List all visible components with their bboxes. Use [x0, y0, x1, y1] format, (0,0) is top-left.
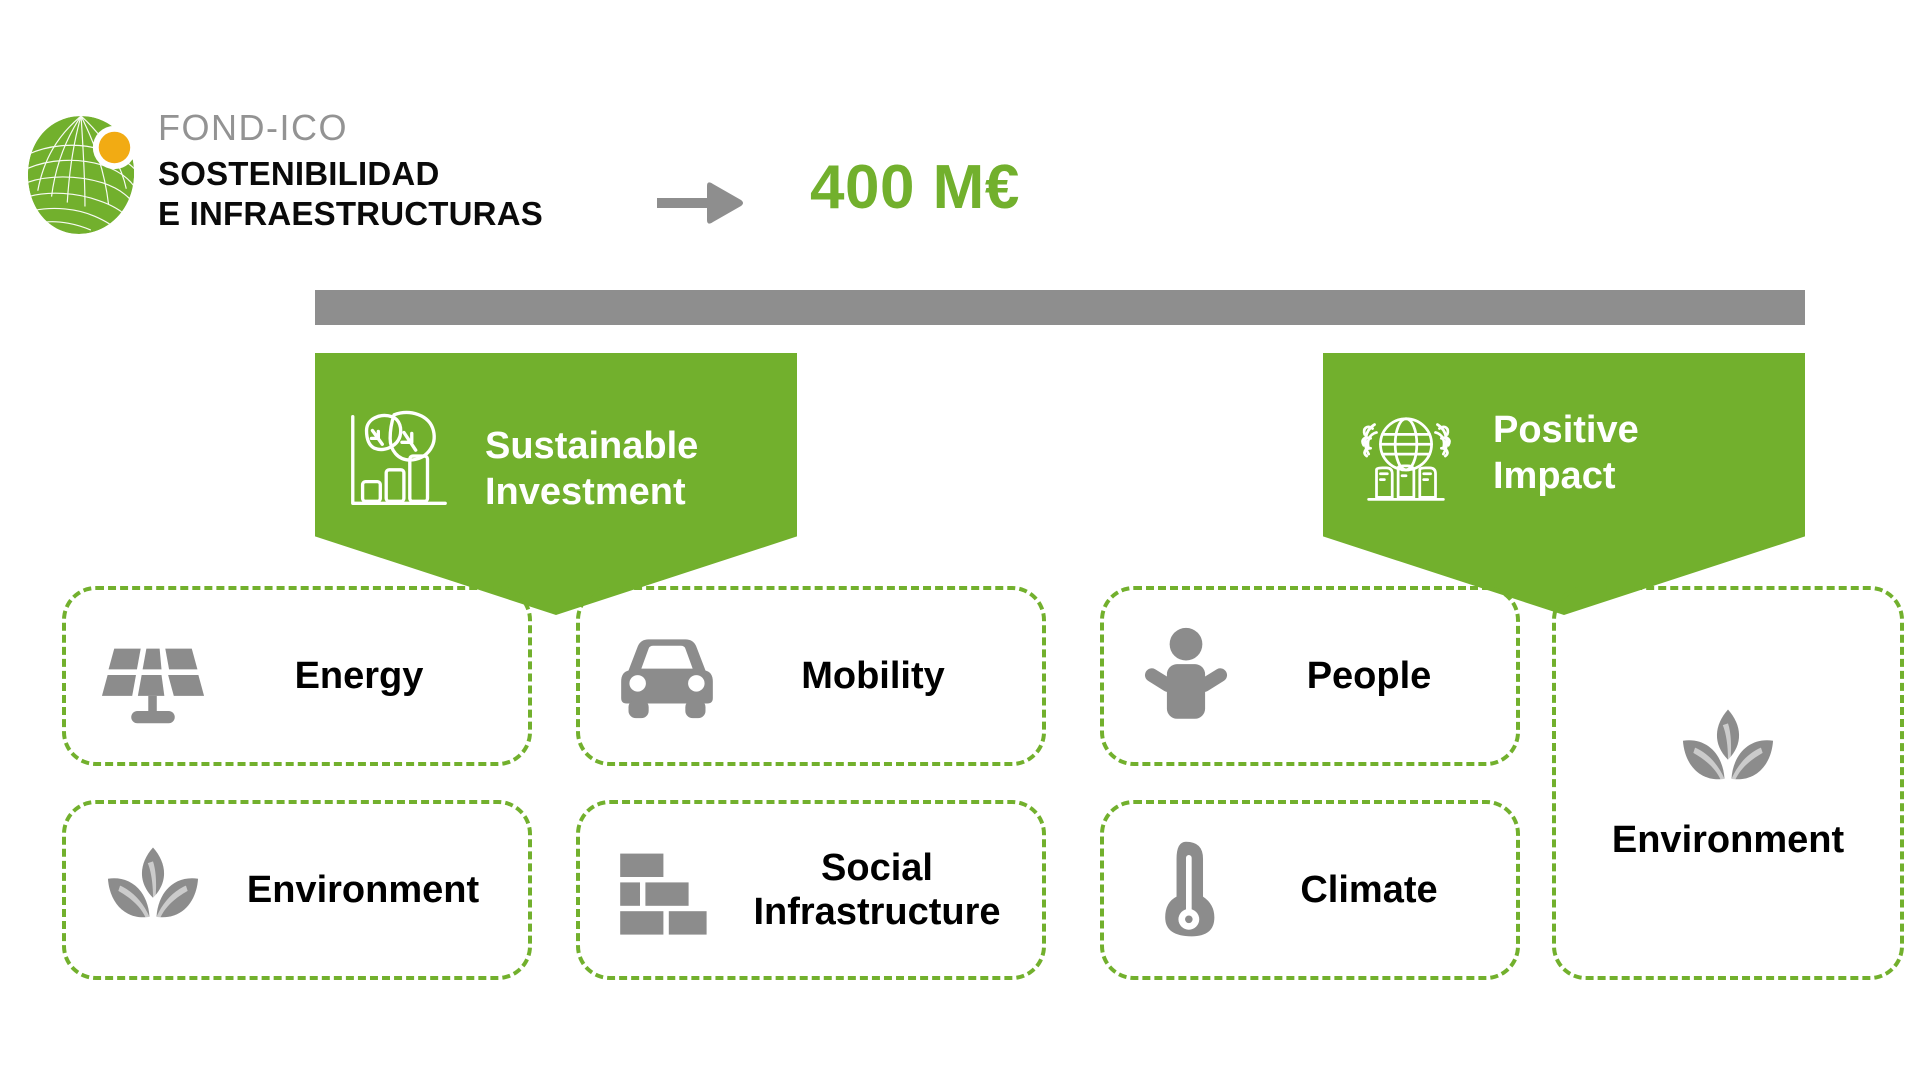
- card-label-energy: Energy: [218, 654, 528, 698]
- logo-brand: FOND-ICO: [158, 110, 543, 146]
- banner-label-sustainable-investment: Sustainable Investment: [485, 423, 698, 516]
- card-mobility[interactable]: Mobility: [576, 586, 1046, 766]
- orange-dot-icon: [99, 132, 130, 163]
- card-label-mobility: Mobility: [732, 654, 1042, 698]
- banner-sustainable-investment[interactable]: Sustainable Investment: [315, 353, 797, 615]
- fond-ico-logo: FOND-ICO SOSTENIBILIDAD E INFRAESTRUCTUR…: [24, 108, 543, 236]
- card-people[interactable]: People: [1100, 586, 1520, 766]
- card-label-people: People: [1246, 654, 1516, 698]
- solar-panel-icon: [88, 624, 218, 728]
- card-environment-right[interactable]: Environment: [1552, 586, 1904, 980]
- person-icon: [1126, 626, 1246, 726]
- card-climate[interactable]: Climate: [1100, 800, 1520, 980]
- thermometer-icon: [1126, 838, 1246, 942]
- banner-label-positive-impact: Positive Impact: [1493, 407, 1639, 500]
- leaves-plant-icon: [88, 842, 218, 938]
- car-icon: [602, 630, 732, 722]
- card-environment-left[interactable]: Environment: [62, 800, 532, 980]
- right-arrow-icon: [655, 178, 745, 228]
- card-label-environment-left: Environment: [218, 868, 528, 912]
- header: FOND-ICO SOSTENIBILIDAD E INFRAESTRUCTUR…: [0, 0, 1920, 290]
- card-label-climate: Climate: [1246, 868, 1516, 912]
- amount-value: 400 M€: [810, 152, 1020, 223]
- banner-positive-impact[interactable]: Positive Impact: [1323, 353, 1805, 615]
- logo-title-line2: E INFRAESTRUCTURAS: [158, 194, 543, 234]
- gray-divider-bar: [315, 290, 1805, 325]
- brick-wall-icon: [602, 841, 732, 940]
- logo-title-line1: SOSTENIBILIDAD: [158, 154, 543, 194]
- card-label-social-infrastructure: Social Infrastructure: [732, 846, 1042, 935]
- card-social-infrastructure[interactable]: Social Infrastructure: [576, 800, 1046, 980]
- green-globe-icon: [24, 114, 142, 236]
- hands-globe-laurel-icon: [1347, 401, 1465, 519]
- card-energy[interactable]: Energy: [62, 586, 532, 766]
- card-label-environment-right: Environment: [1612, 818, 1844, 862]
- leaves-plant-icon: [1673, 704, 1783, 800]
- bar-chart-leaf-icon: [339, 401, 457, 519]
- logo-text-block: FOND-ICO SOSTENIBILIDAD E INFRAESTRUCTUR…: [158, 110, 543, 233]
